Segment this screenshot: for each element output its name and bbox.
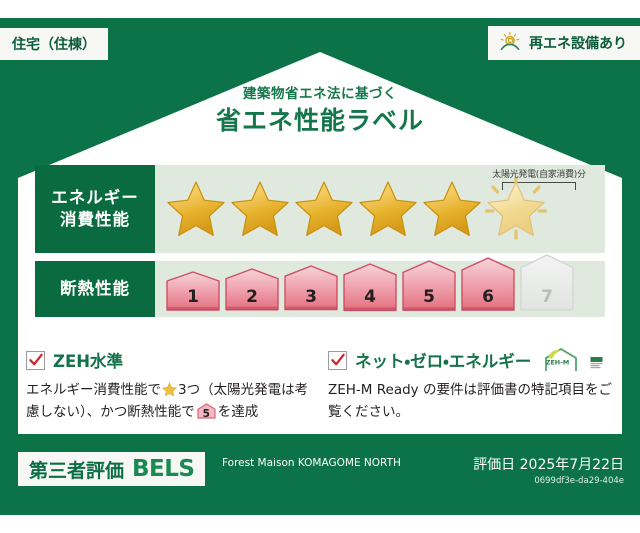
- energy-performance-label: エネルギー 消費性能: [35, 165, 155, 253]
- star-filled: [357, 178, 419, 240]
- energy-star-rating: [165, 165, 599, 253]
- insulation-level-6: 6: [460, 257, 516, 313]
- evaluation-date: 評価日 2025年7月22日: [473, 454, 624, 474]
- insulation-level-scale: 1 2 3 4 5 6 7: [165, 261, 575, 317]
- label-main-title: 省エネ性能ラベル: [0, 107, 640, 136]
- insulation-performance-value: 1 2 3 4 5 6 7: [155, 261, 605, 317]
- svg-text:ZEH-M: ZEH-M: [546, 359, 569, 367]
- sun-icon: [498, 31, 522, 55]
- zeh-m-mini-mark-icon: [590, 354, 603, 367]
- inline-star-icon: [162, 382, 177, 397]
- zeh-m-logo-icon: ZEH-M: [541, 347, 581, 373]
- building-type-tag: 住宅（住棟）: [0, 28, 108, 60]
- zeh-criteria-title: ZEH水準: [53, 348, 123, 372]
- third-party-evaluation-label: 第三者評価: [29, 456, 124, 483]
- label-subtitle: 建築物省エネ法に基づく: [0, 86, 640, 102]
- insulation-level-4: 4: [342, 263, 398, 313]
- insulation-level-2: 2: [224, 268, 280, 313]
- zeh-body-pre: エネルギー消費性能で: [26, 382, 161, 398]
- performance-rows: エネルギー 消費性能 太陽光発電(自家消費)分: [35, 165, 605, 325]
- energy-label-line2: 消費性能: [60, 209, 130, 231]
- zeh-criteria-body: エネルギー消費性能で 3つ（太陽光発電は考慮しない）、かつ断熱性能で 5 を達成: [26, 379, 312, 424]
- renewable-energy-label: 再エネ設備あり: [529, 33, 627, 53]
- nze-checkbox[interactable]: [328, 351, 347, 370]
- nze-criteria-title: ネット・ゼロ・エネルギー: [355, 348, 531, 372]
- nze-criteria-header: ネット・ゼロ・エネルギー ZEH-M: [328, 348, 614, 372]
- energy-performance-label: 住宅（住棟） 再エネ設備あり 建築物省エネ法に基づく 省エネ性能ラベル: [0, 0, 640, 533]
- label-footer: 第三者評価 BELS Forest Maison KOMAGOME NORTH …: [0, 448, 640, 500]
- energy-label-line1: エネルギー: [51, 187, 139, 209]
- inline-level-badge: 5: [197, 403, 216, 419]
- bels-logo-text: BELS: [132, 456, 194, 482]
- star-filled: [293, 178, 355, 240]
- zeh-criteria-column: ZEH水準 エネルギー消費性能で 3つ（太陽光発電は考慮しない）、かつ断熱性能で…: [26, 348, 312, 424]
- renewable-energy-tag: 再エネ設備あり: [488, 26, 640, 60]
- star-filled: [229, 178, 291, 240]
- criteria-section: ZEH水準 エネルギー消費性能で 3つ（太陽光発電は考慮しない）、かつ断熱性能で…: [26, 348, 614, 424]
- zeh-criteria-header: ZEH水準: [26, 348, 312, 372]
- energy-performance-row: エネルギー 消費性能 太陽光発電(自家消費)分: [35, 165, 605, 253]
- building-type-label: 住宅（住棟）: [12, 34, 96, 54]
- star-solar: [485, 178, 547, 240]
- insulation-level-3: 3: [283, 265, 339, 313]
- zeh-checkbox[interactable]: [26, 351, 45, 370]
- bels-plate: 第三者評価 BELS: [18, 452, 205, 486]
- building-name: Forest Maison KOMAGOME NORTH: [222, 456, 472, 470]
- insulation-performance-row: 断熱性能 1 2 3 4 5: [35, 261, 605, 317]
- nze-criteria-column: ネット・ゼロ・エネルギー ZEH-M: [328, 348, 614, 424]
- label-title-block: 建築物省エネ法に基づく 省エネ性能ラベル: [0, 86, 640, 136]
- insulation-level-7: 7: [519, 254, 575, 313]
- inline-level-badge-value: 5: [197, 409, 216, 420]
- star-filled: [165, 178, 227, 240]
- insulation-performance-label: 断熱性能: [35, 261, 155, 317]
- star-filled: [421, 178, 483, 240]
- energy-performance-value: 太陽光発電(自家消費)分: [155, 165, 605, 253]
- evaluation-id: 0699df3e-da29-404e: [473, 476, 624, 486]
- nze-criteria-body: ZEH-M Ready の要件は評価書の特記項目をご覧ください。: [328, 379, 614, 424]
- evaluation-info: 評価日 2025年7月22日 0699df3e-da29-404e: [473, 454, 624, 486]
- insulation-level-1: 1: [165, 271, 221, 313]
- zeh-body-post: を達成: [218, 404, 259, 420]
- insulation-level-5: 5: [401, 260, 457, 313]
- insulation-label-text: 断熱性能: [60, 278, 130, 300]
